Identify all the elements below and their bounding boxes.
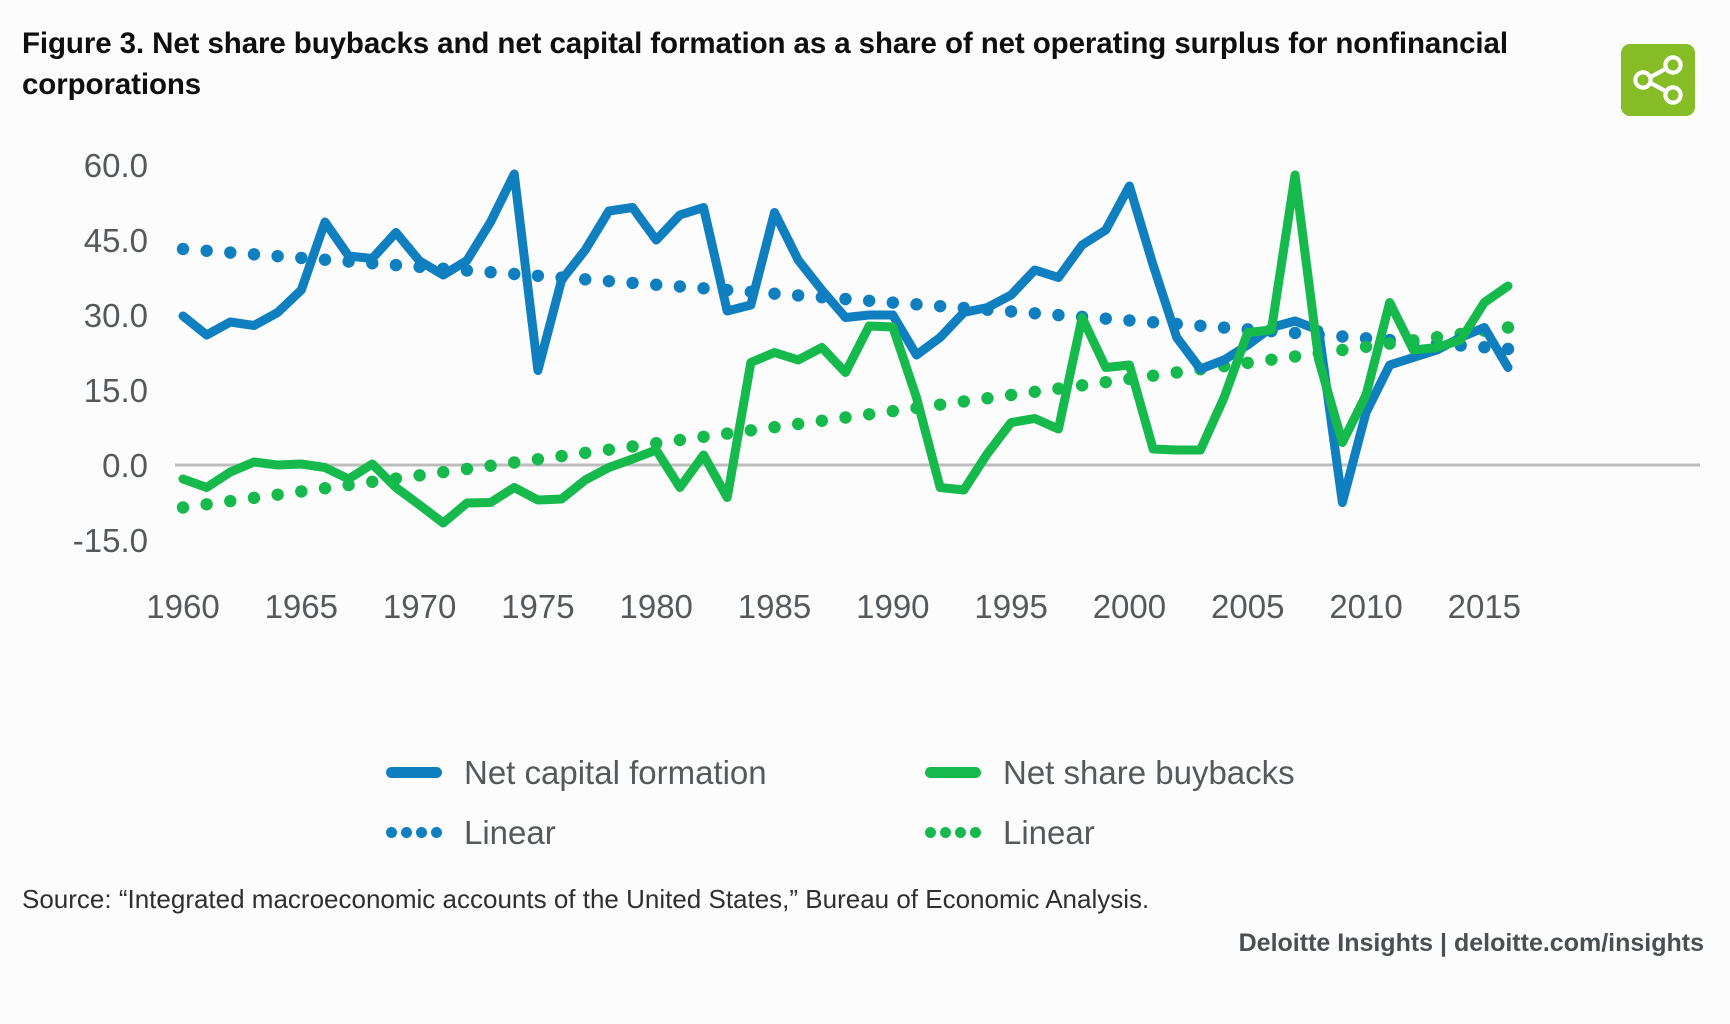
trendline-dot: [839, 293, 851, 305]
trendline-dot: [437, 466, 449, 478]
trendline-dot: [1005, 305, 1017, 317]
trendline-dot: [792, 418, 804, 430]
legend-label: Linear: [464, 816, 556, 849]
share-icon: [1621, 44, 1695, 116]
trendline-dot: [603, 443, 615, 455]
legend-item-linear-blue[interactable]: Linear: [386, 816, 556, 849]
x-tick-label: 2000: [1093, 588, 1166, 625]
trendline-dot: [1171, 366, 1183, 378]
data-series-group: [183, 174, 1508, 523]
x-tick-label: 2005: [1211, 588, 1284, 625]
trendline-dot: [1194, 320, 1206, 332]
y-tick-label: -15.0: [73, 522, 148, 559]
trendline-dot: [1242, 357, 1254, 369]
trendline-dot: [295, 485, 307, 497]
legend-swatch-dotted-blue: [386, 827, 442, 838]
trendline-dot: [1360, 341, 1372, 353]
legend-label: Net capital formation: [464, 756, 767, 789]
trendline-dot: [390, 259, 402, 271]
y-axis-tick-labels: -15.00.015.030.045.060.0: [73, 147, 148, 559]
legend-row-1: Net capital formation: [386, 756, 767, 789]
trendline-dot: [1383, 337, 1395, 349]
y-tick-label: 60.0: [84, 147, 148, 184]
trendline-dot: [650, 279, 662, 291]
x-tick-label: 1980: [620, 588, 693, 625]
trendline-dot: [839, 411, 851, 423]
trendline-dot: [603, 275, 615, 287]
trendline-dot: [626, 440, 638, 452]
trendline-dot: [887, 296, 899, 308]
trendline-dot: [1100, 312, 1112, 324]
trendline-dot: [1218, 321, 1230, 333]
legend-row-3: Linear: [386, 816, 556, 849]
legend-item-net-share-buybacks[interactable]: Net share buybacks: [925, 756, 1295, 789]
trendline-dot: [413, 469, 425, 481]
trendline-dot: [626, 277, 638, 289]
y-tick-label: 45.0: [84, 222, 148, 259]
x-tick-label: 2010: [1329, 588, 1402, 625]
brand-note: Deloitte Insights | deloitte.com/insight…: [1239, 929, 1704, 958]
legend-label: Net share buybacks: [1003, 756, 1295, 789]
trendline-dot: [958, 395, 970, 407]
legend-label: Linear: [1003, 816, 1095, 849]
x-tick-label: 2015: [1448, 588, 1521, 625]
trendline-dot: [1502, 321, 1514, 333]
trendline-dot: [295, 252, 307, 264]
trendline-dot: [1029, 386, 1041, 398]
trendline-dot: [863, 408, 875, 420]
x-tick-label: 1995: [974, 588, 1047, 625]
trendline-dot: [792, 289, 804, 301]
legend-item-net-capital-formation[interactable]: Net capital formation: [386, 756, 767, 789]
trendline-dot: [177, 243, 189, 255]
trendline-dot: [271, 250, 283, 262]
series-line-net-capital-formation: [183, 174, 1508, 503]
trendline-dot: [934, 398, 946, 410]
trendline-dot: [1289, 327, 1301, 339]
trendline-dot: [248, 248, 260, 260]
legend-item-linear-green[interactable]: Linear: [925, 816, 1095, 849]
trendline-dot: [1336, 344, 1348, 356]
x-tick-label: 1970: [383, 588, 456, 625]
trendline-dot: [1336, 330, 1348, 342]
trendline-dot: [200, 498, 212, 510]
trendline-dot: [1289, 350, 1301, 362]
share-button[interactable]: [1621, 44, 1695, 116]
trendline-dot: [674, 434, 686, 446]
trendline-dot: [981, 392, 993, 404]
trendline-dot: [697, 282, 709, 294]
trendline-dot: [224, 246, 236, 258]
trendline-dot: [910, 298, 922, 310]
trendline-dot: [721, 427, 733, 439]
trendline-dot: [1029, 307, 1041, 319]
x-tick-label: 1960: [146, 588, 219, 625]
trendline-dot: [674, 280, 686, 292]
trendline-dot: [484, 460, 496, 472]
trendline-dot: [1147, 316, 1159, 328]
legend-row-4: Linear: [925, 816, 1095, 849]
trendline-dot: [484, 266, 496, 278]
figure-container: Figure 3. Net share buybacks and net cap…: [0, 0, 1730, 1024]
figure-header: Figure 3. Net share buybacks and net cap…: [0, 0, 1730, 130]
trendline-dot: [1100, 376, 1112, 388]
x-tick-label: 1985: [738, 588, 811, 625]
trendline-dot: [768, 421, 780, 433]
trendline-dot: [1076, 379, 1088, 391]
trendline-dot: [532, 453, 544, 465]
trendline-dot: [224, 495, 236, 507]
trendline-dot: [532, 270, 544, 282]
legend-swatch-solid-blue: [386, 767, 442, 778]
trendline-dot: [1052, 309, 1064, 321]
chart-legend: Net capital formation Net share buybacks…: [0, 752, 1730, 872]
trendline-dot: [248, 492, 260, 504]
trendline-dot: [579, 273, 591, 285]
trendline-dot: [555, 450, 567, 462]
trendline-dot: [319, 254, 331, 266]
legend-row-2: Net share buybacks: [925, 756, 1295, 789]
line-chart: -15.00.015.030.045.060.0 196019651970197…: [0, 130, 1730, 690]
trendline-dot: [319, 482, 331, 494]
legend-swatch-solid-green: [925, 767, 981, 778]
x-tick-label: 1965: [265, 588, 338, 625]
trendline-dot: [745, 424, 757, 436]
trendline-dot: [200, 245, 212, 257]
trendline-dot: [1147, 370, 1159, 382]
y-tick-label: 30.0: [84, 297, 148, 334]
trendline-dot: [579, 447, 591, 459]
trendline-dot: [863, 295, 875, 307]
trendline-dot: [461, 463, 473, 475]
source-note: Source: “Integrated macroeconomic accoun…: [22, 884, 1149, 915]
trendline-dot: [1265, 353, 1277, 365]
trendline-dot: [508, 456, 520, 468]
trendline-dot: [177, 501, 189, 513]
trendline-dot: [1005, 389, 1017, 401]
x-tick-label: 1975: [501, 588, 574, 625]
trendline-dot: [887, 405, 899, 417]
x-axis-tick-labels: 1960196519701975198019851990199520002005…: [146, 588, 1521, 625]
trendline-dot: [1123, 314, 1135, 326]
trendline-dot: [508, 268, 520, 280]
trendline-dot: [366, 476, 378, 488]
trendline-dot: [768, 287, 780, 299]
chart-plot-area: -15.00.015.030.045.060.0 196019651970197…: [0, 130, 1730, 690]
x-tick-label: 1990: [856, 588, 929, 625]
trendline-dot: [816, 415, 828, 427]
trendline-dot: [271, 488, 283, 500]
trendline-dot: [697, 431, 709, 443]
y-tick-label: 0.0: [102, 447, 148, 484]
series-line-net-share-buybacks: [183, 175, 1508, 523]
y-tick-label: 15.0: [84, 372, 148, 409]
page-title: Figure 3. Net share buybacks and net cap…: [22, 24, 1602, 105]
trendline-dot: [934, 300, 946, 312]
legend-swatch-dotted-green: [925, 827, 981, 838]
